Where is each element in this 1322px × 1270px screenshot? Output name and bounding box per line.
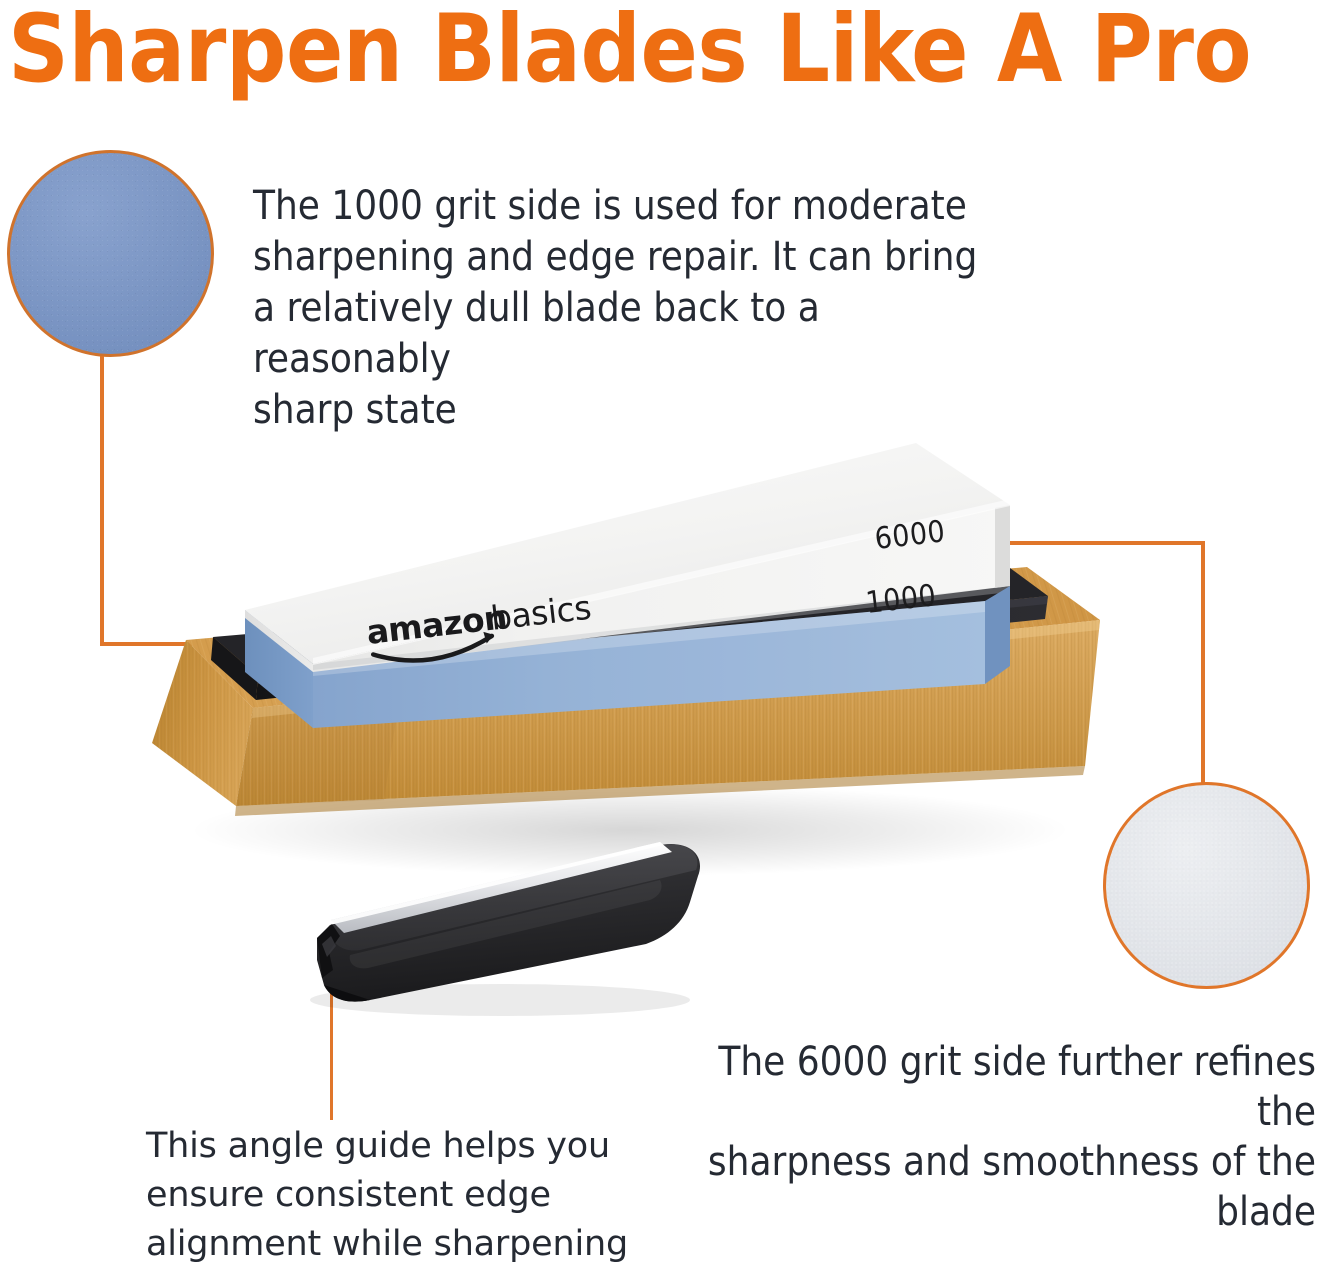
grit-label-1000: 1000 <box>864 578 938 621</box>
callout-text-6000-grit: The 6000 grit side further refines the s… <box>648 1037 1316 1237</box>
svg-text:basics: basics <box>489 588 593 638</box>
base-shadow <box>190 784 1070 876</box>
stone-blue-right-1000 <box>985 586 1010 684</box>
infographic-page: Sharpen Blades Like A Pro The 1000 grit … <box>0 0 1322 1270</box>
svg-text:1000: 1000 <box>864 578 938 621</box>
page-title: Sharpen Blades Like A Pro <box>8 0 1318 102</box>
wood-base-bottom-edge <box>235 766 1085 816</box>
callout-text-1000-grit: The 1000 grit side is used for moderate … <box>253 181 1013 436</box>
stone-white-left-6000 <box>245 610 313 672</box>
stone-blue-left-1000 <box>245 610 313 728</box>
svg-text:amazon: amazon <box>364 597 508 652</box>
callout-swatch-6000-grit <box>1103 782 1310 989</box>
stone-blue-front-1000 <box>313 601 985 728</box>
callout-text-angle-guide: This angle guide helps you ensure consis… <box>146 1122 666 1269</box>
wood-base-top <box>186 567 1100 708</box>
silicone-holder-left <box>211 637 258 700</box>
callout-swatch-1000-grit <box>7 150 214 357</box>
grit-label-6000: 6000 <box>873 514 947 557</box>
stone-white-front-face <box>313 505 1010 672</box>
wood-base-front-left <box>152 640 253 806</box>
angle-guide-silver-rail <box>331 842 672 933</box>
amazonbasics-logo: amazon basics <box>364 588 594 667</box>
angle-guide-body <box>317 844 700 1002</box>
connector-line-1000-horizontal <box>100 642 270 646</box>
connector-line-1000-vertical <box>100 356 104 646</box>
angle-guide-shadow <box>310 984 690 1016</box>
stone-white-right-6000 <box>995 505 1010 588</box>
angle-guide-clip <box>317 924 340 978</box>
silicone-holder-front <box>256 596 1048 700</box>
wood-base-front <box>236 620 1100 806</box>
connector-line-6000-horizontal <box>992 541 1205 545</box>
stone-white-front-6000 <box>313 505 1010 664</box>
connector-line-6000-vertical <box>1201 541 1205 791</box>
amazon-smile-icon <box>373 636 494 666</box>
connector-line-angle-guide <box>330 968 333 1120</box>
stone-white-top-6000 <box>245 443 1010 664</box>
svg-text:6000: 6000 <box>873 514 947 557</box>
angle-guide-top-face <box>330 844 698 950</box>
silicone-holder-top <box>213 568 1048 676</box>
